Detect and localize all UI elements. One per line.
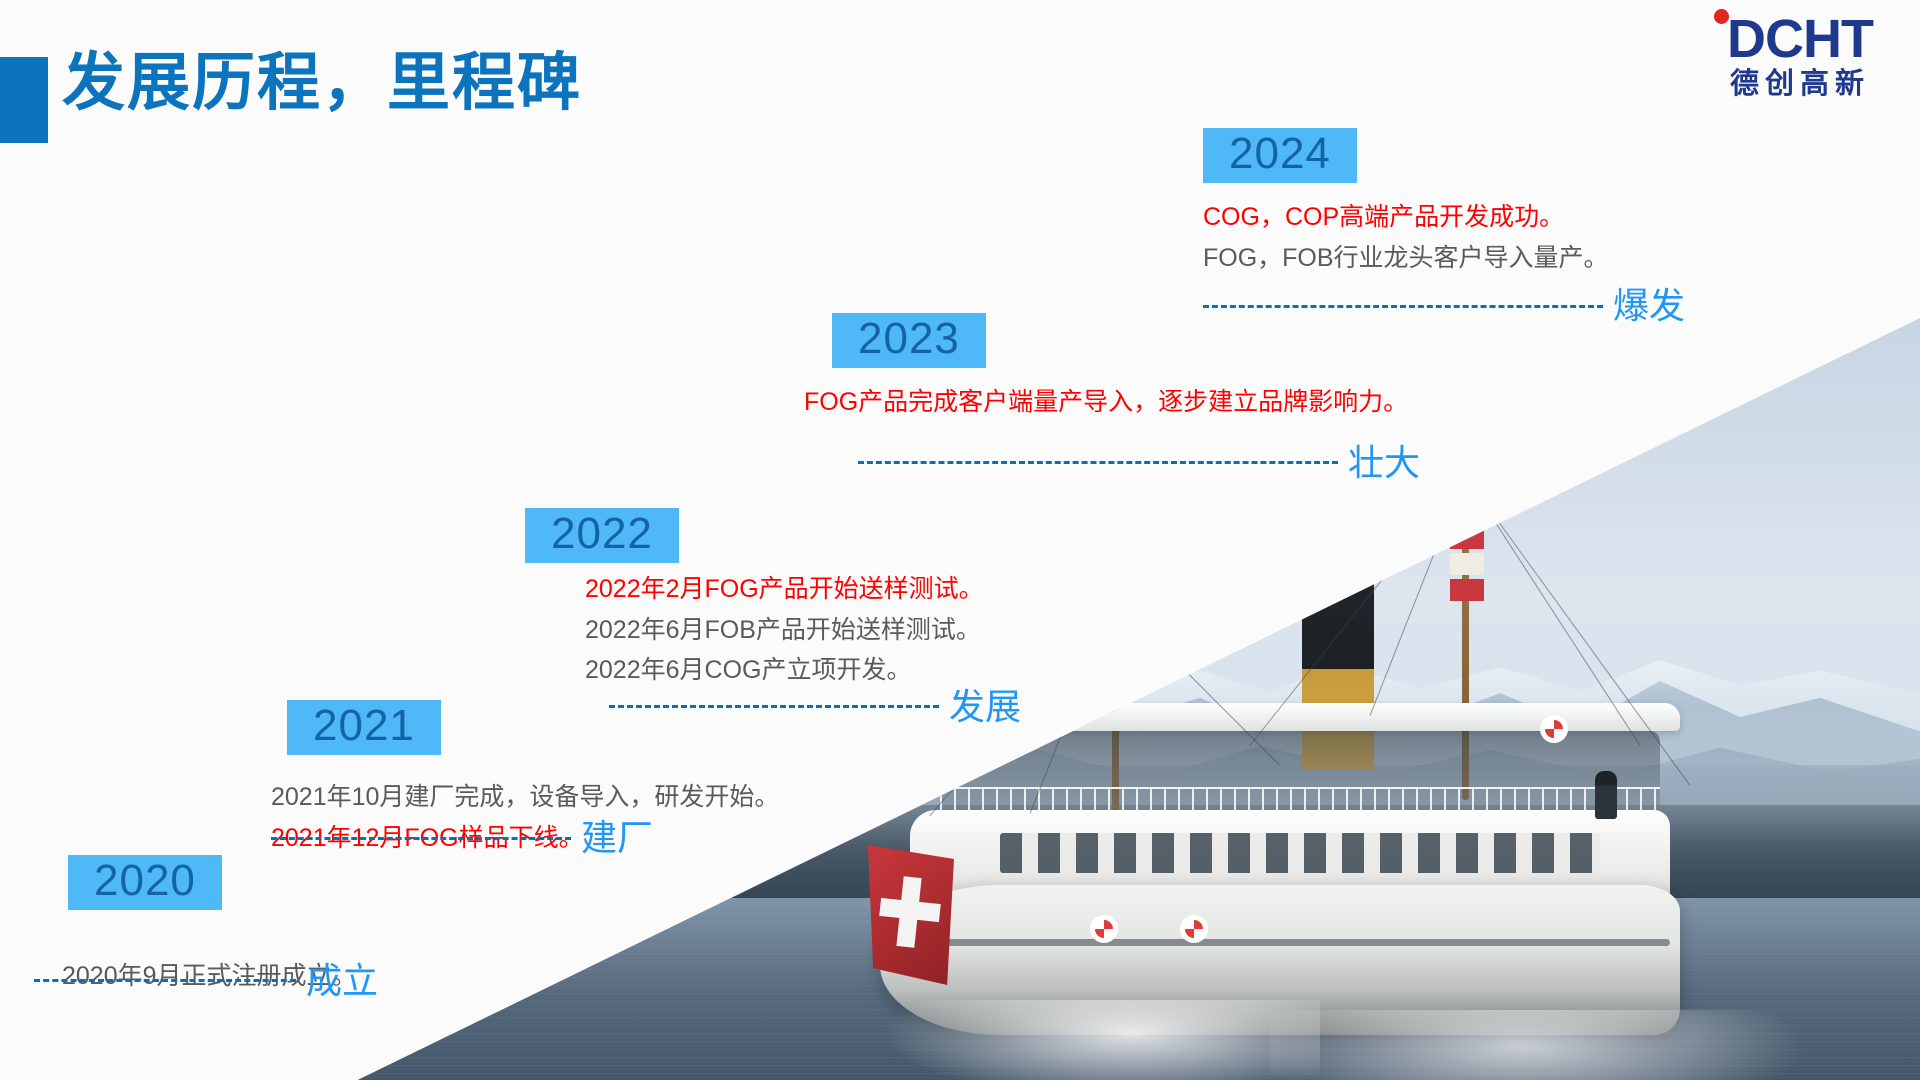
logo-chinese-name: 德创高新 (1698, 70, 1902, 99)
page-title: 发展历程，里程碑 (62, 46, 582, 122)
logo-wordmark: DCHT (1698, 12, 1902, 66)
year-badge-2021: 2021 (287, 700, 441, 755)
milestone-line: FOG，FOB行业龙头客户导入量产。 (1203, 238, 1685, 279)
year-badge-2020: 2020 (68, 855, 222, 910)
milestone-line: 2022年6月COG产立项开发。 (585, 650, 1021, 691)
dashed-connector (1203, 305, 1603, 308)
milestone-2024: 2024 COG，COP高端产品开发成功。 FOG，FOB行业龙头客户导入量产。… (1203, 128, 1685, 324)
logo-mark-text: DCHT (1727, 9, 1873, 69)
year-badge-2023: 2023 (832, 313, 986, 368)
milestone-2021: 2021 2021年10月建厂完成，设备导入，研发开始。 2021年12月FOG… (287, 700, 779, 856)
milestone-tag: 发展 (949, 689, 1021, 725)
milestone-tag: 建厂 (581, 820, 653, 856)
title-accent-bar (0, 57, 48, 143)
milestone-tagrow-2023: 壮大 (858, 445, 1420, 481)
year-badge-2024: 2024 (1203, 128, 1357, 183)
milestone-lines-2024: COG，COP高端产品开发成功。 FOG，FOB行业龙头客户导入量产。 (1203, 197, 1685, 278)
milestone-2020: 2020 2020年9月正式注册成立。 成立 (68, 855, 378, 999)
milestone-tag: 爆发 (1613, 288, 1685, 324)
milestone-line: 2021年10月建厂完成，设备导入，研发开始。 (271, 777, 779, 818)
milestone-line: 2022年6月FOB产品开始送样测试。 (585, 610, 1021, 651)
milestone-lines-2022: 2022年2月FOG产品开始送样测试。 2022年6月FOB产品开始送样测试。 … (585, 569, 1021, 691)
logo-dot-icon (1714, 9, 1729, 24)
milestone-lines-2023: FOG产品完成客户端量产导入，逐步建立品牌影响力。 (804, 382, 1420, 423)
dashed-connector (271, 837, 571, 840)
year-badge-2022: 2022 (525, 508, 679, 563)
milestone-line: 2022年2月FOG产品开始送样测试。 (585, 569, 1021, 610)
milestone-2022: 2022 2022年2月FOG产品开始送样测试。 2022年6月FOB产品开始送… (525, 508, 1021, 725)
milestone-2023: 2023 FOG产品完成客户端量产导入，逐步建立品牌影响力。 壮大 (832, 313, 1420, 481)
slide-canvas: 发展历程，里程碑 DCHT 德创高新 2024 COG，COP高端产品开发成功。… (0, 0, 1920, 1080)
milestone-line: FOG产品完成客户端量产导入，逐步建立品牌影响力。 (804, 382, 1420, 423)
company-logo: DCHT 德创高新 (1698, 6, 1902, 116)
dashed-connector (858, 461, 1338, 464)
milestone-tag: 成立 (306, 963, 378, 999)
milestone-tag: 壮大 (1348, 445, 1420, 481)
milestone-line: COG，COP高端产品开发成功。 (1203, 197, 1685, 238)
dashed-connector (34, 979, 296, 982)
